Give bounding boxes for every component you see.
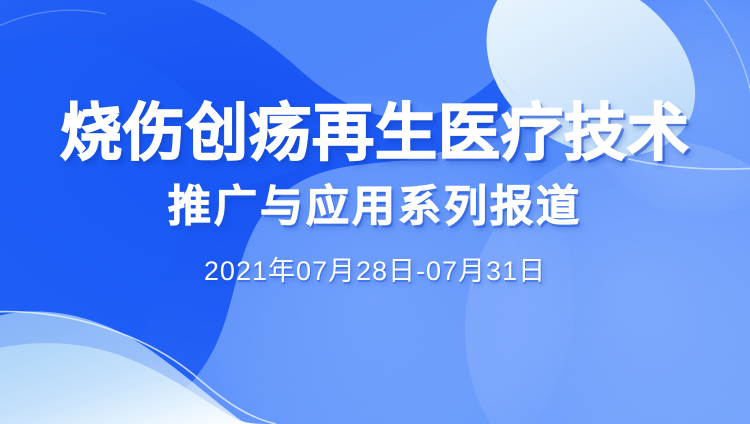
promo-banner: 烧伤创疡再生医疗技术 推广与应用系列报道 2021年07月28日-07月31日 bbox=[0, 0, 750, 424]
banner-content: 烧伤创疡再生医疗技术 推广与应用系列报道 2021年07月28日-07月31日 bbox=[0, 0, 750, 424]
page-title: 烧伤创疡再生医疗技术 bbox=[60, 101, 690, 167]
date-range-label: 2021年07月28日-07月31日 bbox=[204, 255, 546, 287]
page-subtitle: 推广与应用系列报道 bbox=[168, 183, 582, 231]
